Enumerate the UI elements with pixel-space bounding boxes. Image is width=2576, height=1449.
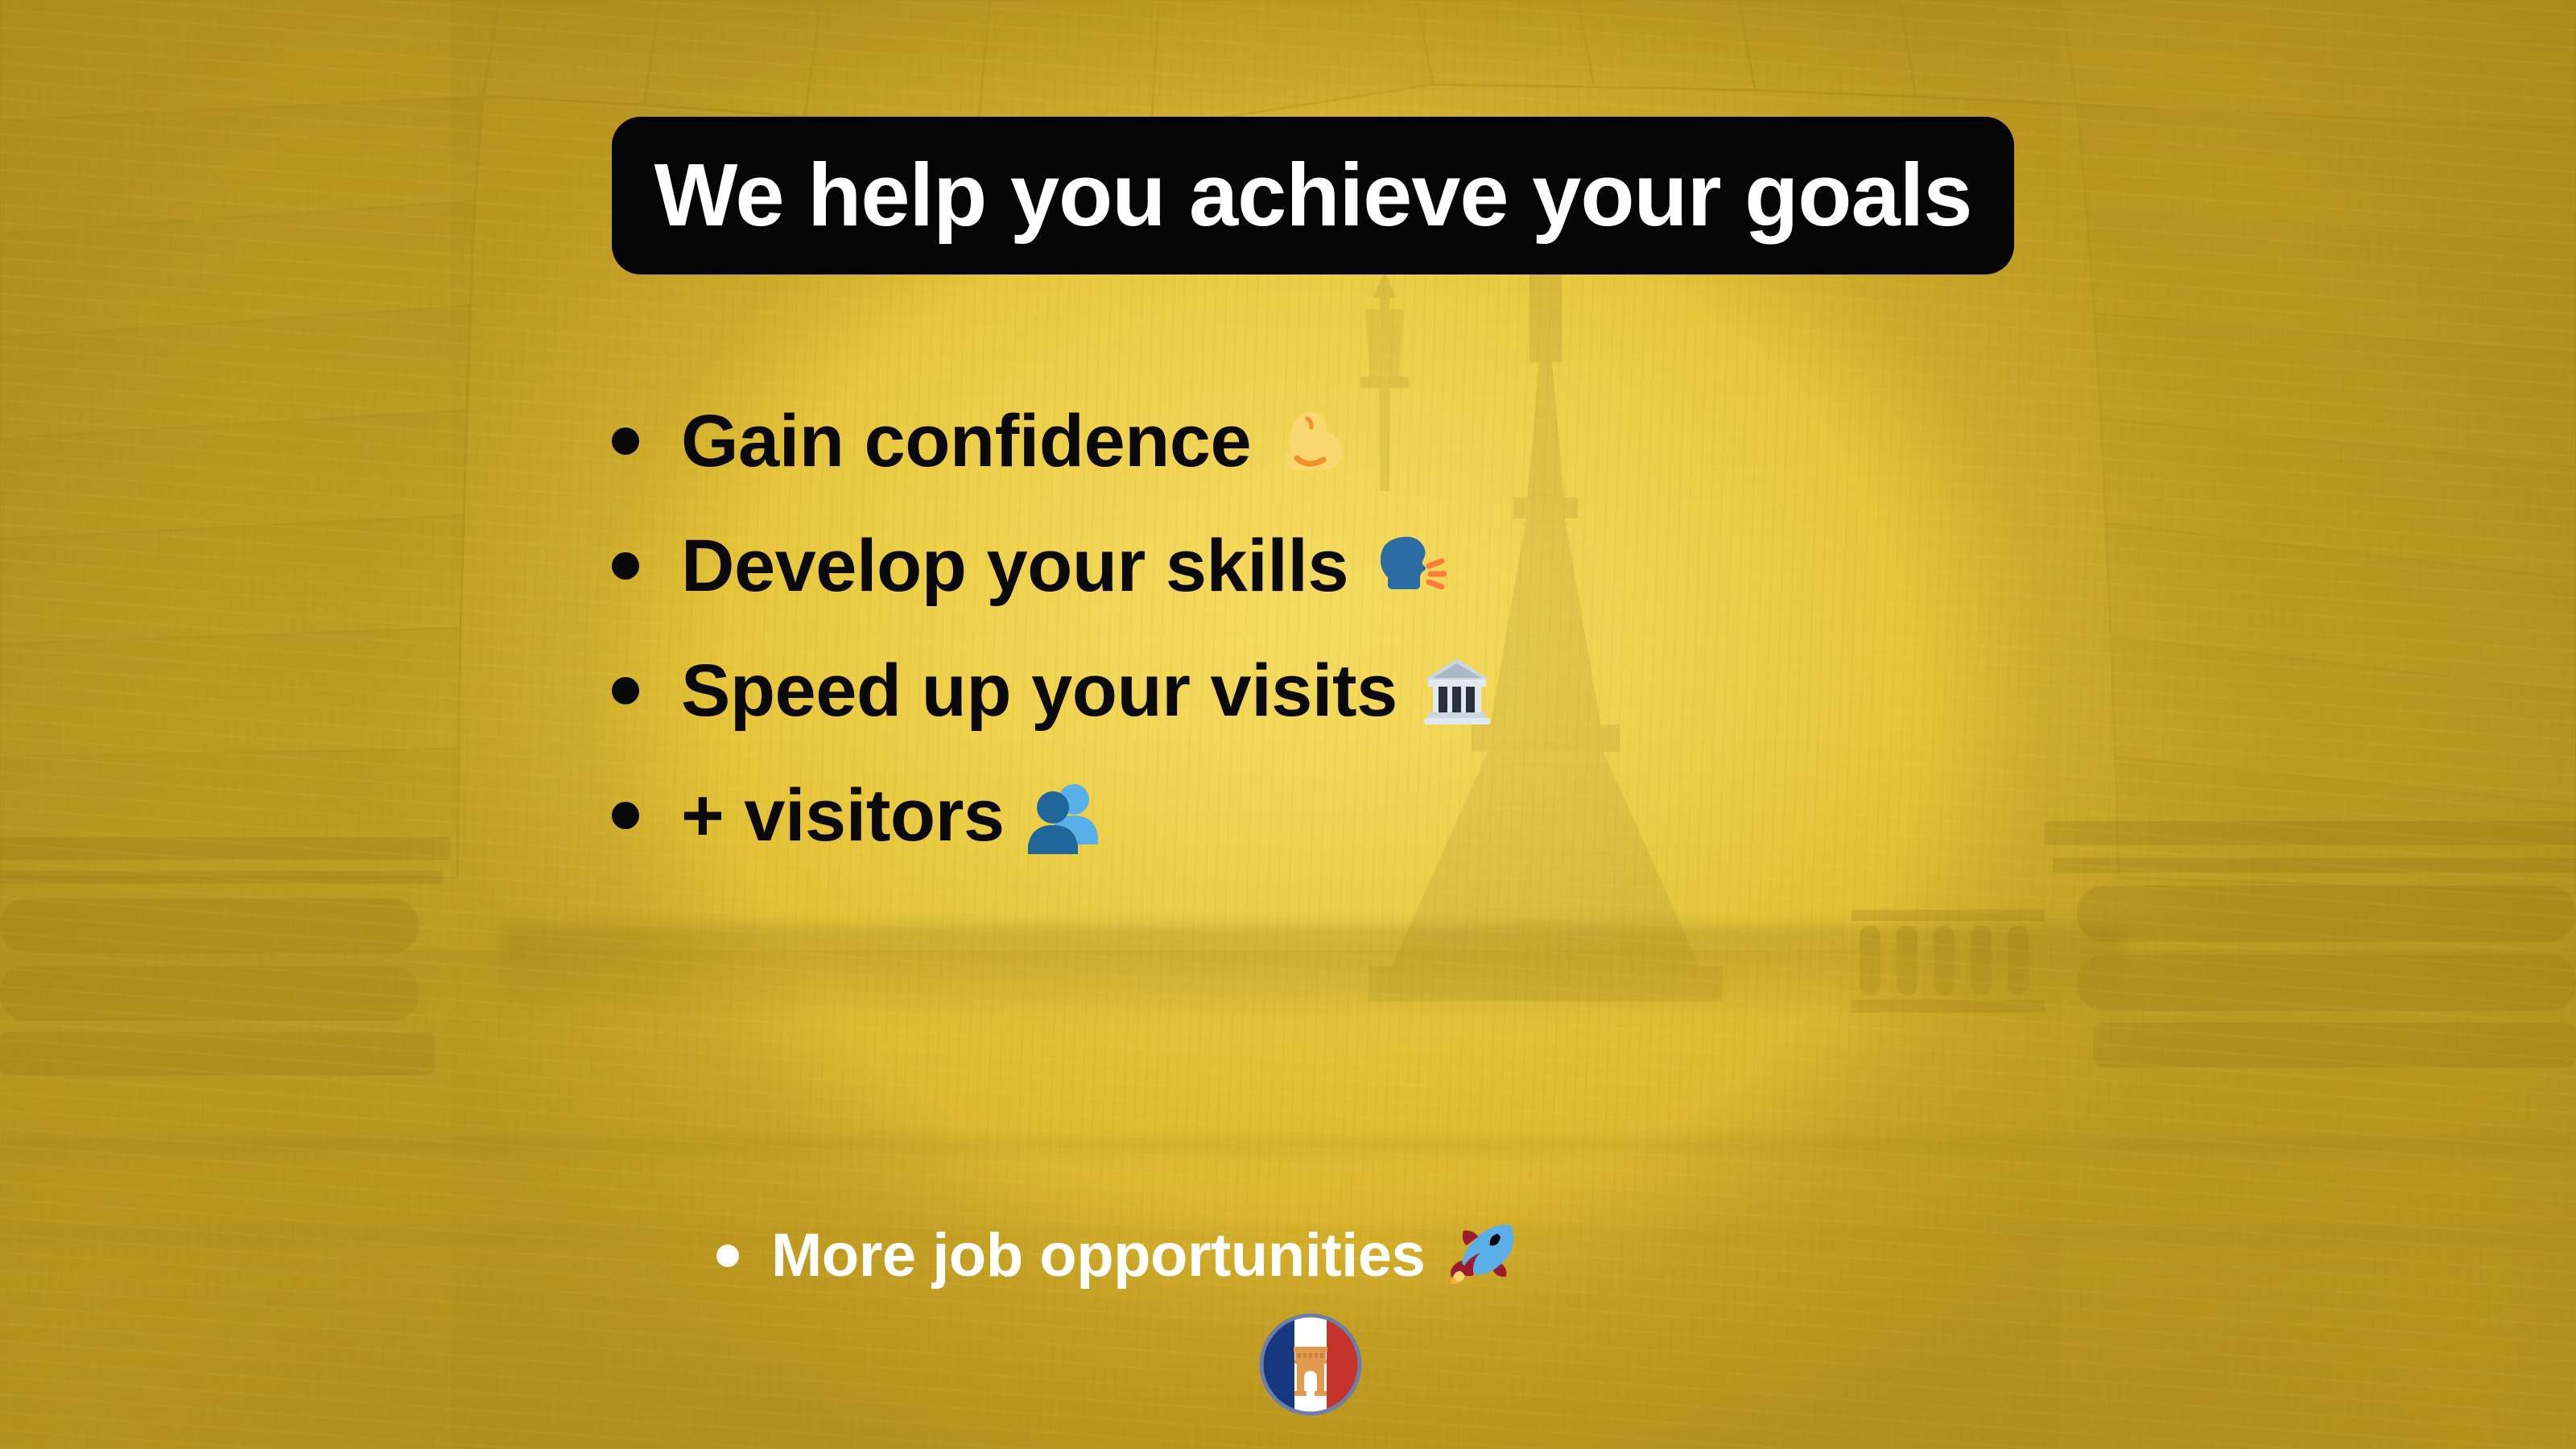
bullet-label: Speed up your visits (681, 654, 1397, 728)
bullet-dot-icon (612, 552, 639, 580)
flexed-biceps-emoji (1272, 402, 1349, 480)
list-item: Speed up your visits (612, 628, 2302, 753)
bullet-dot-icon (716, 1245, 739, 1267)
bullet-label: Develop your skills (681, 529, 1348, 603)
page-title: We help you achieve your goals (654, 151, 1972, 240)
bullet-label: Gain confidence (681, 404, 1251, 478)
classical-building-emoji (1418, 652, 1496, 729)
rocket-emoji (1446, 1220, 1517, 1291)
arc-de-triomphe-french-flag-logo (1258, 1312, 1363, 1417)
list-item: + visitors (612, 753, 2302, 877)
bullet-dot-icon (612, 677, 639, 704)
bullet-label: + visitors (681, 778, 1005, 852)
list-item: Gain confidence (612, 378, 2302, 503)
highlight-list-item: More job opportunities (716, 1207, 1517, 1304)
busts-in-silhouette-emoji (1026, 777, 1103, 854)
bullet-dot-icon (612, 802, 639, 829)
slide-content: We help you achieve your goals Gain conf… (0, 0, 2576, 1449)
title-pill: We help you achieve your goals (612, 117, 2014, 275)
bullet-dot-icon (612, 427, 639, 455)
speaking-head-emoji (1369, 527, 1447, 605)
benefits-list: Gain confidence Develop your skills (612, 378, 2302, 877)
list-item: Develop your skills (612, 503, 2302, 628)
highlight-bullet-label: More job opportunities (771, 1225, 1425, 1286)
